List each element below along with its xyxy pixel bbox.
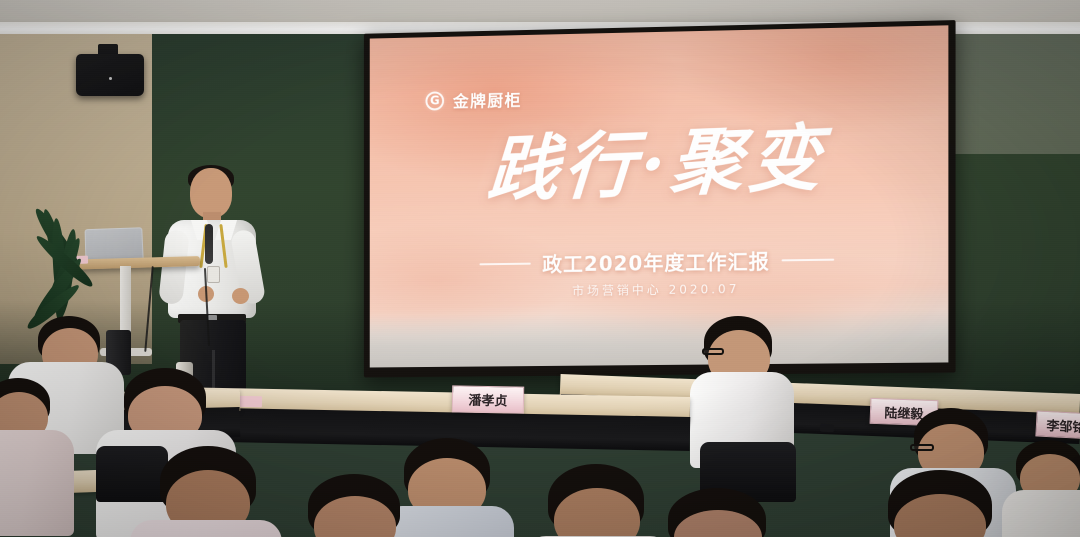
audience-torso — [1002, 490, 1080, 537]
rule-right — [782, 258, 835, 261]
presenter — [160, 168, 268, 388]
phone — [820, 424, 834, 433]
brand-name: 金牌厨柜 — [453, 87, 522, 112]
nameplate-label: 陆继毅 — [884, 402, 924, 422]
presenter-hand-right — [232, 288, 249, 304]
projection-screen: G 金牌厨柜 践行·聚变 政工2020年度工作汇报 市场营销中心 2020.07 — [364, 20, 956, 377]
presenter-head — [190, 168, 232, 218]
glasses-icon — [702, 348, 724, 355]
nameplate-label: 李邹铭 — [1046, 414, 1080, 435]
audience-torso — [0, 430, 74, 536]
slide-bottom-fade — [370, 310, 949, 368]
nameplate: 潘孝贞 — [452, 385, 524, 413]
glasses-icon — [910, 444, 934, 451]
presenter-badge — [207, 266, 220, 283]
audience-torso — [380, 506, 514, 537]
microphone-icon — [205, 224, 213, 264]
brand-lockup: G 金牌厨柜 — [425, 87, 521, 113]
rule-left — [479, 262, 530, 265]
nameplate: 李邹铭 — [1035, 410, 1080, 439]
wall-speaker-icon — [76, 54, 144, 96]
brand-g-icon: G — [425, 91, 444, 110]
projection-screen-surface: G 金牌厨柜 践行·聚变 政工2020年度工作汇报 市场营销中心 2020.07 — [370, 25, 949, 367]
conference-room-photo: G 金牌厨柜 践行·聚变 政工2020年度工作汇报 市场营销中心 2020.07 — [0, 0, 1080, 537]
chair — [96, 446, 168, 502]
presentation-slide: G 金牌厨柜 践行·聚变 政工2020年度工作汇报 市场营销中心 2020.07 — [370, 25, 949, 367]
nameplate-label: 潘孝贞 — [468, 390, 507, 410]
slide-subtitle: 政工2020年度工作汇报 — [542, 245, 769, 277]
speaker-led-icon — [109, 77, 112, 80]
audience-torso — [130, 520, 282, 537]
